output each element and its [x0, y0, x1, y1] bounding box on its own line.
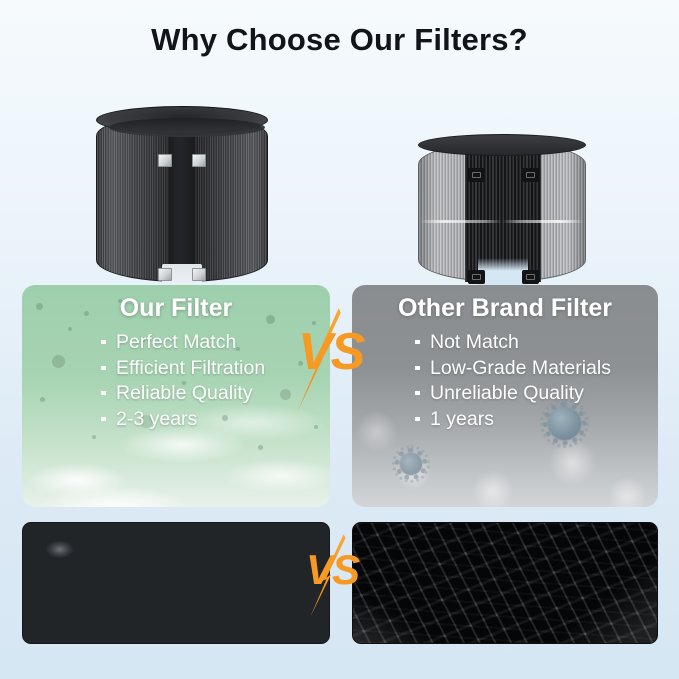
our-filter-comparison-panel: Our Filter Perfect Match Efficient Filtr…: [22, 285, 330, 507]
other-brand-comparison-panel: Other Brand Filter Not Match Low-Grade M…: [352, 285, 658, 507]
filter-clip-icon: [192, 268, 206, 281]
filter-top-rim-inner: [109, 118, 265, 137]
page-title: Why Choose Our Filters?: [0, 22, 679, 58]
bullet-marker-icon: [415, 340, 420, 344]
raw-charcoal-chunks-image: [352, 522, 658, 644]
list-item-label: 2-3 years: [116, 408, 197, 430]
list-item: Efficient Filtration: [100, 356, 265, 382]
list-item: Unreliable Quality: [414, 381, 611, 407]
other-filter-tab-icon: [468, 168, 485, 182]
list-item-label: Not Match: [430, 331, 519, 353]
bullet-marker-icon: [101, 366, 106, 370]
bullet-marker-icon: [101, 340, 106, 344]
other-brand-panel-heading: Other Brand Filter: [352, 294, 658, 323]
list-item: Reliable Quality: [100, 381, 265, 407]
activated-carbon-pellets-image: [22, 522, 330, 644]
filter-clip-icon: [192, 154, 206, 167]
other-filter-tab-icon: [522, 270, 539, 284]
other-filter-tab-icon: [522, 168, 539, 182]
bullet-marker-icon: [101, 391, 106, 395]
list-item-label: Perfect Match: [116, 331, 236, 353]
our-filter-panel-heading: Our Filter: [22, 294, 330, 323]
filter-top-rim: [96, 106, 268, 134]
list-item-label: Efficient Filtration: [116, 357, 265, 379]
filter-clip-icon: [158, 268, 172, 281]
our-filter-feature-list: Perfect Match Efficient Filtration Relia…: [100, 330, 265, 432]
bullet-marker-icon: [415, 417, 420, 421]
vs-badge-top: VS: [298, 326, 363, 378]
bullet-marker-icon: [415, 366, 420, 370]
bullet-marker-icon: [101, 417, 106, 421]
other-brand-filter-product-image: [418, 132, 586, 290]
list-item-label: 1 years: [430, 408, 494, 430]
list-item-label: Reliable Quality: [116, 382, 253, 404]
vs-badge-bottom: VS: [306, 549, 358, 591]
list-item: 2-3 years: [100, 407, 265, 433]
other-brand-feature-list: Not Match Low-Grade Materials Unreliable…: [414, 330, 611, 432]
other-filter-band: [420, 220, 584, 223]
virus-particle-icon: [400, 453, 422, 475]
list-item-label: Low-Grade Materials: [430, 357, 611, 379]
other-filter-tab-icon: [468, 270, 485, 284]
filter-clip-icon: [158, 154, 172, 167]
our-filter-product-image: [92, 100, 272, 290]
bullet-marker-icon: [415, 391, 420, 395]
list-item: Perfect Match: [100, 330, 265, 356]
list-item: Not Match: [414, 330, 611, 356]
list-item: Low-Grade Materials: [414, 356, 611, 382]
poster-canvas: Why Choose Our Filters?: [0, 0, 679, 679]
list-item-label: Unreliable Quality: [430, 382, 584, 404]
list-item: 1 years: [414, 407, 611, 433]
other-filter-top-rim: [418, 134, 586, 156]
